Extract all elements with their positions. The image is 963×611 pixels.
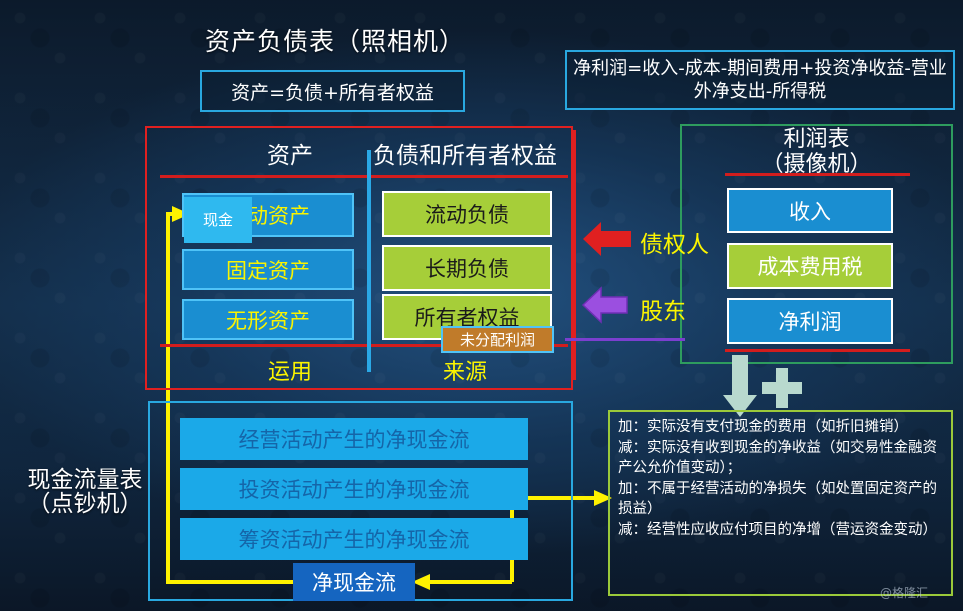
income-statement-bottom-rule	[725, 349, 910, 352]
income-item-net-profit[interactable]: 净利润	[727, 298, 893, 344]
plus-icon	[762, 368, 802, 408]
balance-sheet-footer-source: 来源	[390, 354, 540, 386]
creditor-arrow-icon	[583, 222, 631, 256]
shareholder-label: 股东	[640, 292, 686, 326]
explanation-line-4: 减：经营性应收应付项目的净增（营运资金变动）	[618, 520, 943, 541]
cash-flow-title-main: 现金流量表	[28, 467, 143, 493]
cash-flow-item-operating[interactable]: 经营活动产生的净现金流	[180, 418, 528, 460]
balance-sheet-header-liabilities: 负债和所有者权益	[360, 136, 570, 170]
income-item-revenue[interactable]: 收入	[727, 188, 893, 233]
explanation-line-2: 减：实际没有收到现金的净收益（如交易性金融资产公允价值变动）；	[618, 438, 943, 479]
retained-earnings-badge[interactable]: 未分配利润	[441, 326, 554, 353]
slide-canvas: 资产负债表（照相机） 现金流量表 （点钞机） 资产=负债+所有者权益 净利润=收…	[0, 0, 963, 611]
shareholder-arrow-icon	[583, 288, 627, 322]
formula-net-profit-equation: 净利润=收入-成本-期间费用+投资净收益-营业外净支出-所得税	[565, 50, 955, 110]
balance-sheet-center-divider	[367, 150, 371, 372]
income-statement-title-line1: 利润表	[690, 127, 943, 152]
cash-flow-item-financing[interactable]: 筹资活动产生的净现金流	[180, 518, 528, 560]
page-title-balance-sheet: 资产负债表（照相机）	[205, 22, 465, 58]
watermark: @格隆汇	[880, 584, 928, 601]
income-statement-top-rule	[725, 173, 910, 176]
cash-flow-item-investing[interactable]: 投资活动产生的净现金流	[180, 468, 528, 510]
asset-item-intangible[interactable]: 无形资产	[182, 299, 354, 340]
income-item-cost-expense-tax[interactable]: 成本费用税	[727, 243, 893, 289]
page-title-cash-flow: 现金流量表 （点钞机）	[10, 468, 160, 516]
balance-sheet-header-assets: 资产	[220, 136, 360, 170]
income-statement-title: 利润表 （摄像机）	[690, 127, 943, 178]
explanation-line-1: 加：实际没有支付现金的费用（如折旧摊销）	[618, 417, 943, 438]
cash-flow-title-sub: （点钞机）	[10, 492, 160, 516]
asset-cash-overlay[interactable]: 现金	[184, 197, 252, 243]
liability-item-current[interactable]: 流动负债	[382, 191, 552, 237]
balance-sheet-footer-use: 运用	[220, 354, 360, 386]
liability-item-long-term[interactable]: 长期负债	[382, 245, 552, 291]
down-arrow-icon	[723, 355, 757, 417]
explanation-line-3: 加：不属于经营活动的净损失（如处置固定资产的损益）	[618, 479, 943, 520]
creditor-connector-line	[573, 130, 576, 380]
cash-flow-net-box[interactable]: 净现金流	[293, 563, 415, 601]
shareholder-connector-line	[565, 338, 685, 341]
adjustment-explanation-box: 加：实际没有支付现金的费用（如折旧摊销） 减：实际没有收到现金的净收益（如交易性…	[608, 410, 953, 596]
formula-assets-equation: 资产=负债+所有者权益	[200, 70, 465, 112]
balance-sheet-top-rule	[160, 175, 568, 178]
creditor-label: 债权人	[640, 225, 709, 259]
asset-item-fixed[interactable]: 固定资产	[182, 249, 354, 290]
